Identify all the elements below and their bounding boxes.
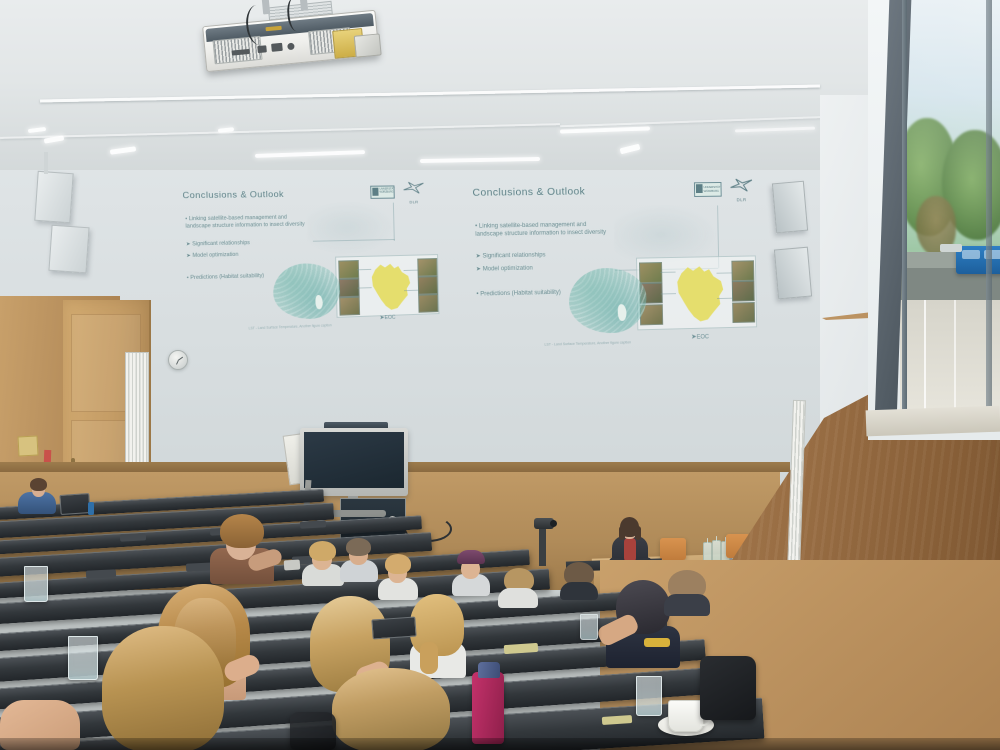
slide-footnote: LST - Land Surface Temperature, Another …: [249, 323, 332, 330]
dlr-logo: DLR: [729, 178, 754, 200]
monitor-bezel: [300, 428, 408, 496]
eoc-logo: ➤EOC: [379, 314, 395, 322]
bullet-marker: ➤: [186, 253, 191, 259]
foreground-shadow: [0, 738, 1000, 750]
bullet-marker: •: [187, 275, 189, 281]
wall-speaker-left-lower: [48, 225, 89, 274]
habitat-hexagon-blob: [568, 267, 647, 334]
glass-glare: [900, 0, 1000, 430]
wall-speaker-right-lower: [774, 247, 812, 300]
germany-outline-figure: [307, 201, 396, 256]
paper-sheet: [284, 559, 301, 570]
habitat-hexagon-blob: [273, 263, 341, 321]
slide-title: Conclusions & Outlook: [182, 189, 284, 201]
bullet-marker: ➤: [186, 241, 191, 247]
chair[interactable]: [660, 538, 686, 560]
slide-title: Conclusions & Outlook: [472, 186, 585, 199]
coffee-cup[interactable]: [668, 700, 704, 732]
cap: [457, 550, 485, 564]
backpack: [700, 656, 756, 720]
window-glass: [900, 0, 1000, 430]
ceiling-light: [110, 146, 136, 155]
audience-member: [204, 512, 282, 582]
ceiling-light-strip: [735, 127, 815, 133]
window-sill: [866, 406, 1000, 437]
bullet-marker: •: [476, 291, 478, 298]
bullet-marker: ➤: [476, 266, 481, 273]
water-glass[interactable]: [580, 614, 598, 640]
eoc-logo: ➤EOC: [691, 332, 709, 340]
small-bottle: [88, 502, 94, 515]
slide-bullet-2: ➤ Significant relationships: [186, 239, 312, 249]
laptop[interactable]: [371, 616, 416, 639]
university-logo: UNIVERSITÄTWÜRZBURG: [694, 182, 722, 197]
presenter-inner-top: [624, 538, 636, 562]
audience-member: [450, 548, 492, 594]
bullet-marker: ➤: [476, 253, 481, 260]
water-glass[interactable]: [24, 566, 48, 602]
bavaria-map-figure: [636, 255, 757, 330]
thermos-cap[interactable]: [478, 662, 500, 678]
audience-member: [560, 560, 600, 598]
lanyard: [644, 638, 670, 647]
window-mullion: [986, 0, 992, 430]
slide-bullet-3: ➤ Model optimization: [186, 250, 312, 260]
audience-member: [338, 536, 380, 580]
bavaria-map-figure: [335, 254, 439, 318]
wall-clock: [168, 350, 188, 370]
armrest: [300, 520, 326, 528]
left-projection-screen: Conclusions & Outlook UNIVERSITÄTWÜRZBUR…: [169, 176, 442, 343]
projector-lens: [354, 33, 382, 57]
slide-bullet-1: • Linking satellite-based management and…: [185, 214, 311, 230]
monitor-screen[interactable]: [304, 432, 404, 488]
slide-bullet-1: • Linking satellite-based management and…: [475, 221, 614, 239]
window-mullion: [902, 0, 907, 426]
wall-speaker-right-upper: [772, 181, 808, 234]
water-glass[interactable]: [68, 636, 98, 680]
speaker-bracket: [44, 152, 48, 174]
laptop[interactable]: [59, 493, 90, 515]
armrest: [120, 533, 146, 541]
water-glass[interactable]: [636, 676, 662, 716]
wall-speaker-left-upper: [34, 171, 73, 223]
audience-member: [662, 566, 714, 614]
door-sign: [17, 435, 38, 456]
audience-member: [98, 626, 228, 750]
bullet-marker: •: [185, 216, 187, 222]
ceiling-light: [620, 144, 641, 155]
camera-lens-icon: [550, 520, 557, 527]
ceiling-light-strip: [255, 150, 365, 158]
dlr-logo: DLR: [402, 181, 424, 199]
slide-bullet-2: ➤ Significant relationships: [476, 250, 615, 260]
armrest: [86, 569, 116, 579]
ceiling-light-strip: [560, 126, 650, 133]
window-handle[interactable]: [940, 244, 962, 252]
university-logo: UNIVERSITÄTWÜRZBURG: [370, 185, 395, 198]
lecture-hall-photo: Conclusions & Outlook UNIVERSITÄTWÜRZBUR…: [0, 0, 1000, 750]
audience-member: [498, 566, 540, 606]
bullet-marker: •: [475, 223, 477, 230]
ceiling-light: [28, 127, 46, 133]
thermos-bottle[interactable]: [472, 672, 504, 744]
document-camera-arm: [539, 524, 546, 566]
audience-member: [18, 478, 64, 512]
slide-footnote: LST - Land Surface Temperature, Another …: [544, 340, 631, 346]
ceiling-light-strip: [420, 157, 540, 163]
right-projection-screen: Conclusions & Outlook UNIVERSITÄTWÜRZBUR…: [456, 170, 761, 361]
